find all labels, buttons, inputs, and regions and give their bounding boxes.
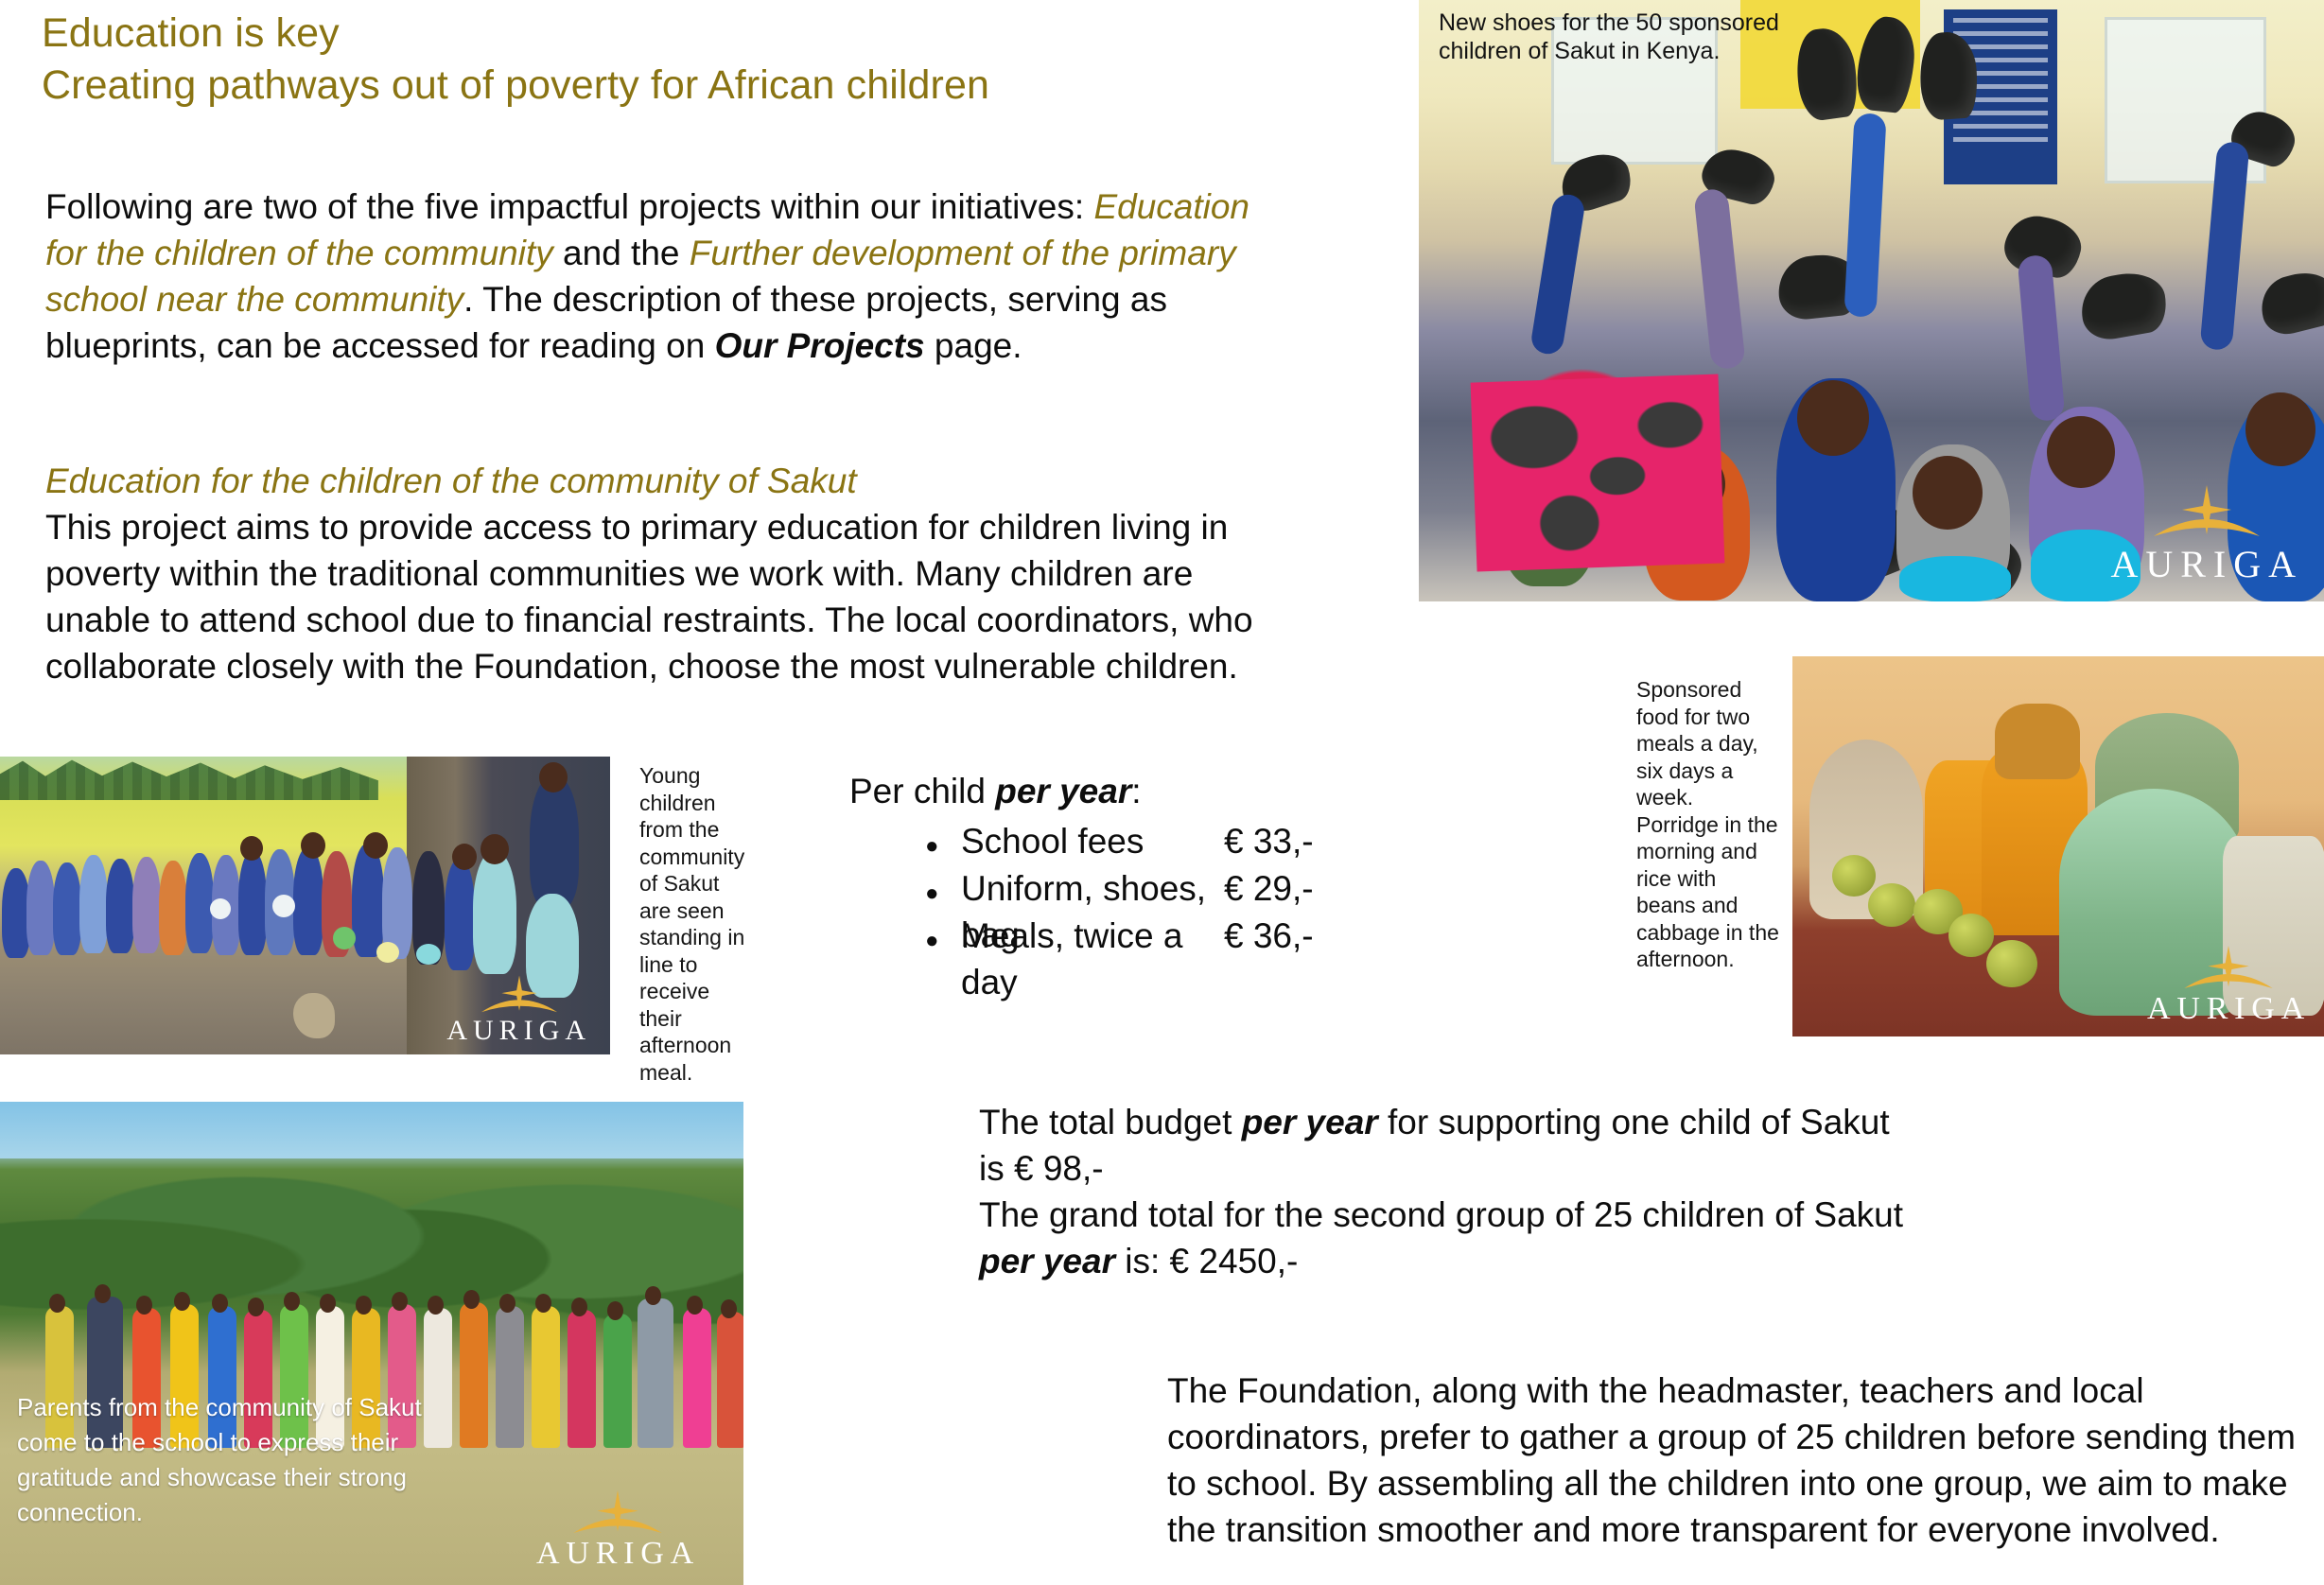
page-title-line-1: Education is key: [42, 8, 1177, 60]
caption-sponsored-food: Sponsored food for two meals a day, six …: [1636, 676, 1780, 973]
intro-text-a: Following are two of the five impactful …: [45, 187, 1093, 226]
auriga-star-icon: [570, 1489, 665, 1540]
section-body-education: This project aims to provide access to p…: [45, 504, 1266, 689]
auriga-wordmark: AURIGA: [2110, 543, 2303, 585]
cost-list-item: ● Uniform, shoes, bag € 29,-: [925, 865, 1455, 913]
cost-lead-plain: Per child: [849, 772, 995, 810]
cost-item-label: School fees: [961, 818, 1224, 864]
patterned-cloth: [1471, 374, 1725, 571]
auriga-wordmark: AURIGA: [536, 1536, 700, 1571]
closing-paragraph: The Foundation, along with the headmaste…: [1167, 1367, 2298, 1553]
page-title-line-2: Creating pathways out of poverty for Afr…: [42, 60, 1177, 112]
cost-item-price: € 36,-: [1224, 913, 1314, 959]
intro-paragraph: Following are two of the five impactful …: [45, 183, 1256, 369]
cost-list-item: ● Meals, twice a day € 36,-: [925, 913, 1455, 960]
photo-new-shoes: New shoes for the 50 sponsored children …: [1419, 0, 2324, 601]
auriga-wordmark: AURIGA: [446, 1015, 591, 1046]
slide-canvas: New shoes for the 50 sponsored children …: [0, 0, 2324, 1585]
cost-list-heading: Per child per year:: [849, 768, 1455, 814]
bullet-icon: ●: [925, 917, 961, 964]
our-projects-link[interactable]: Our Projects: [715, 326, 925, 365]
auriga-star-icon: [479, 973, 560, 1019]
budget-l1-b: per year: [1242, 1103, 1378, 1141]
caption-children-in-line: Young children from the community of Sak…: [639, 762, 749, 1086]
budget-line-2: is € 98,-: [979, 1145, 2019, 1192]
budget-line-4: per year is: € 2450,-: [979, 1238, 2019, 1284]
cost-lead-bold: per year: [995, 772, 1131, 810]
cost-list-item: ● School fees € 33,-: [925, 818, 1455, 865]
budget-block: The total budget per year for supporting…: [979, 1099, 2019, 1284]
budget-line-3: The grand total for the second group of …: [979, 1192, 2019, 1238]
bullet-icon: ●: [925, 823, 961, 869]
photo-sponsored-food: AURIGA: [1792, 656, 2324, 1036]
budget-l1-c: for supporting one child of Sakut: [1378, 1103, 1890, 1141]
auriga-watermark: AURIGA: [536, 1536, 700, 1572]
tree-line: [0, 757, 378, 800]
auriga-star-icon: [2150, 483, 2263, 544]
auriga-star-icon: [2181, 944, 2276, 995]
photo-parents-group: Parents from the community of Sakut come…: [0, 1102, 743, 1585]
auriga-watermark: AURIGA: [2110, 542, 2303, 586]
auriga-wordmark: AURIGA: [2147, 991, 2311, 1026]
budget-l4-a: per year: [979, 1242, 1115, 1280]
budget-line-1: The total budget per year for supporting…: [979, 1099, 2019, 1145]
cost-lead-colon: :: [1131, 772, 1141, 810]
cost-item-label: Meals, twice a day: [961, 913, 1224, 1005]
cost-list-block: Per child per year: ● School fees € 33,-…: [849, 768, 1455, 960]
intro-text-d: page.: [925, 326, 1022, 365]
section-heading-education: Education for the children of the commun…: [45, 459, 991, 504]
bullet-icon: ●: [925, 870, 961, 916]
caption-parents: Parents from the community of Sakut come…: [17, 1390, 462, 1530]
cost-item-price: € 29,-: [1224, 865, 1314, 912]
page-title: Education is key Creating pathways out o…: [42, 8, 1177, 112]
auriga-watermark: AURIGA: [2147, 991, 2311, 1027]
auriga-watermark: AURIGA: [446, 1015, 591, 1047]
cost-item-price: € 33,-: [1224, 818, 1314, 864]
budget-l1-a: The total budget: [979, 1103, 1242, 1141]
caption-new-shoes: New shoes for the 50 sponsored children …: [1439, 9, 1822, 65]
intro-text-b: and the: [553, 234, 690, 272]
photo-children-in-line: AURIGA: [0, 757, 610, 1054]
budget-l4-b: is: € 2450,-: [1115, 1242, 1298, 1280]
